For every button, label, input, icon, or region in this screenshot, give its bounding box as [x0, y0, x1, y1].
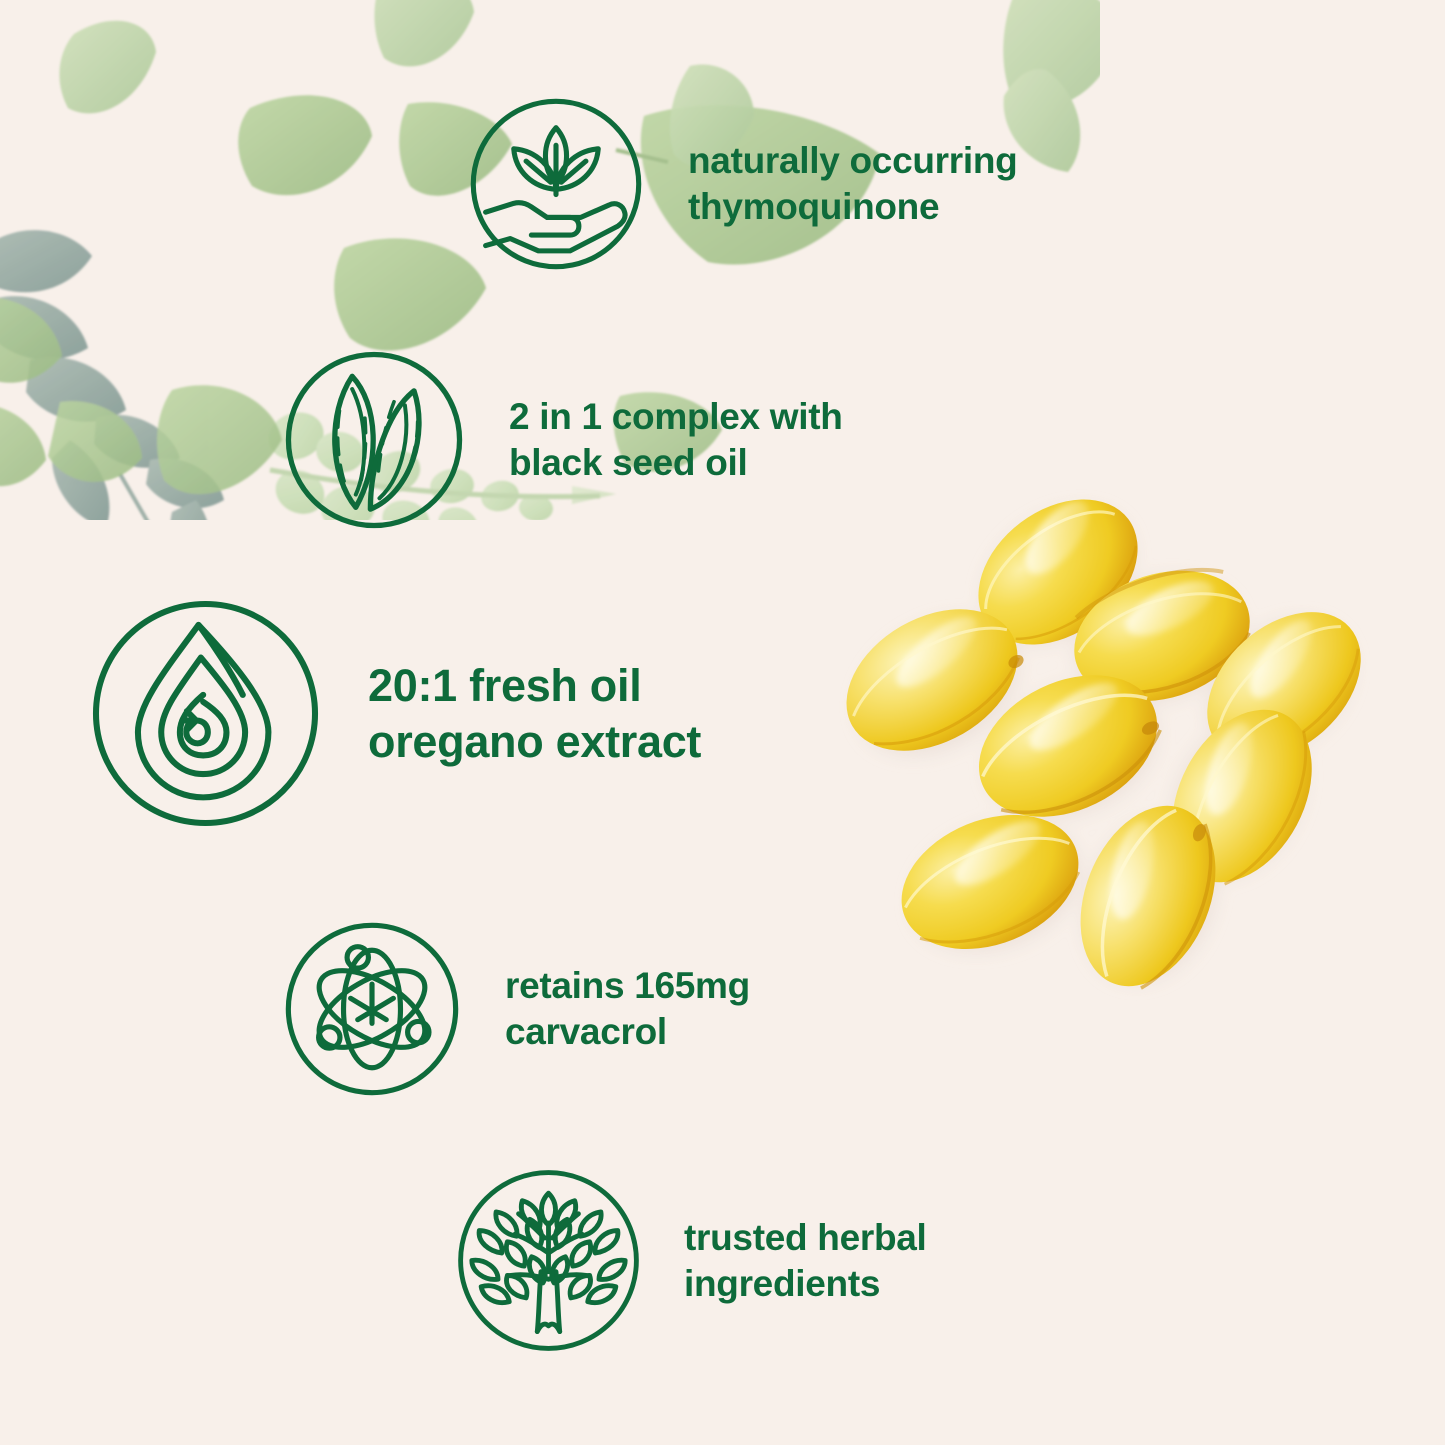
oregano-oil-softgel-capsules	[810, 480, 1370, 1040]
feature-trusted-herbal-ingredients: trusted herbal ingredients	[455, 1167, 927, 1354]
product-feature-infographic: naturally occurring thymoquinone 2 in 1 …	[0, 0, 1445, 1445]
feature-label: trusted herbal ingredients	[684, 1215, 927, 1307]
feature-fresh-oil-oregano-extract: 20:1 fresh oil oregano extract	[89, 597, 701, 830]
feature-naturally-occurring-thymoquinone: naturally occurring thymoquinone	[468, 96, 1017, 272]
feature-label: 2 in 1 complex with black seed oil	[509, 394, 843, 486]
seeds-icon	[283, 349, 465, 531]
feature-label: 20:1 fresh oil oregano extract	[368, 658, 701, 770]
feature-two-in-one-complex-black-seed-oil: 2 in 1 complex with black seed oil	[283, 349, 843, 531]
feature-label: retains 165mg carvacrol	[505, 963, 750, 1055]
feature-label: naturally occurring thymoquinone	[688, 138, 1017, 230]
tree-icon	[455, 1167, 642, 1354]
oil-droplet-spiral-icon	[89, 597, 322, 830]
feature-retains-carvacrol: retains 165mg carvacrol	[283, 920, 750, 1098]
atom-icon	[283, 920, 461, 1098]
hand-holding-plant-icon	[468, 96, 644, 272]
